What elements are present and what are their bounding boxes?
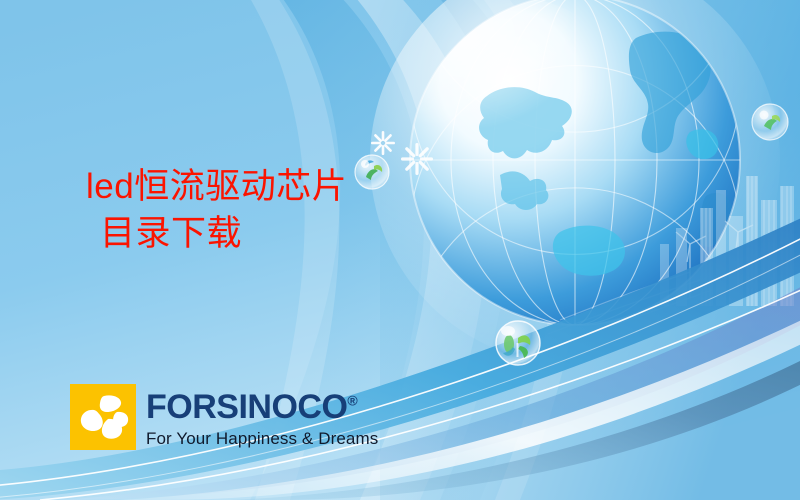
- headline-line-1: led恒流驱动芯片: [86, 166, 347, 207]
- headline-line-2: 目录下载: [100, 213, 347, 254]
- bubble-top-right: [752, 104, 788, 140]
- company-logo: FORSINOCO® For Your Happiness & Dreams: [70, 384, 378, 450]
- logo-text-block: FORSINOCO® For Your Happiness & Dreams: [146, 384, 378, 447]
- forsinoco-pinwheel-mark: [70, 384, 136, 450]
- promotional-banner: led恒流驱动芯片 目录下载 FORSINOCO® For Your Happi…: [0, 0, 800, 500]
- registered-trademark-symbol: ®: [347, 393, 357, 409]
- brand-name: FORSINOCO®: [146, 390, 378, 424]
- bubble-lower-center: [496, 321, 540, 365]
- bubble-mid-left: [355, 155, 389, 189]
- brand-tagline: For Your Happiness & Dreams: [146, 430, 378, 447]
- headline-block: led恒流驱动芯片 目录下载: [86, 166, 347, 255]
- brand-wordmark: FORSINOCO: [146, 388, 347, 426]
- pinwheel-icon: [70, 384, 136, 450]
